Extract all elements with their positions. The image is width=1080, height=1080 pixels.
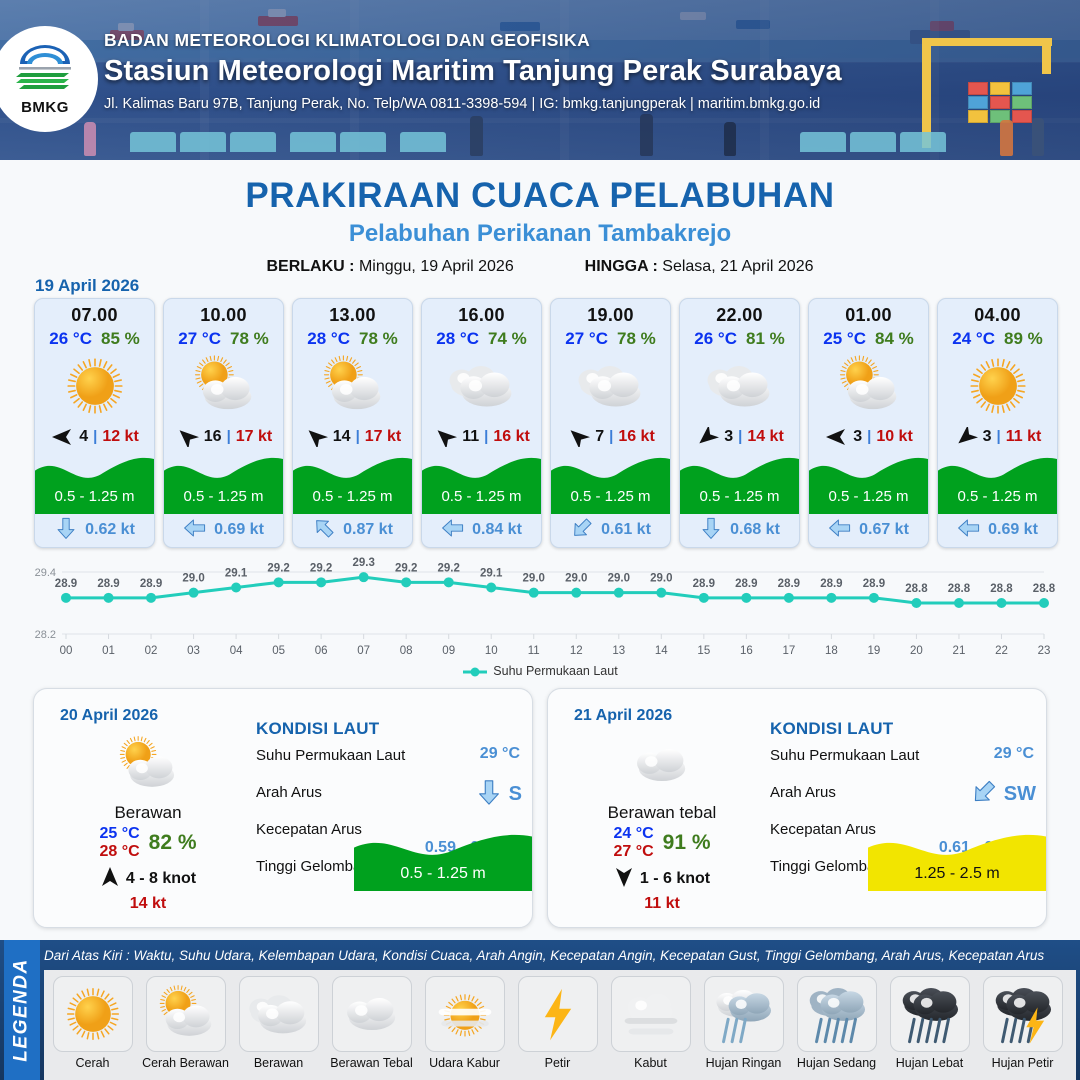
svg-text:18: 18 bbox=[825, 645, 838, 657]
card-current-speed: 0.68 kt bbox=[730, 521, 780, 539]
card-wave-block: 0.5 - 1.25 m bbox=[293, 452, 412, 513]
card-wind-arrow-northwest-icon bbox=[954, 427, 978, 447]
svg-text:28.2: 28.2 bbox=[35, 629, 56, 641]
card-wave-block: 0.5 - 1.25 m bbox=[164, 452, 283, 513]
card-wind-degree: 7 bbox=[595, 428, 604, 446]
card-wind-arrow-southwest-icon bbox=[304, 427, 328, 447]
card-current-row: 0.67 kt bbox=[809, 514, 928, 547]
card-wind-row: 3 | 14 kt bbox=[680, 422, 799, 452]
card-wind-degree: 4 bbox=[79, 428, 88, 446]
card-current-speed: 0.84 kt bbox=[472, 521, 522, 539]
current-direction-row: Arah Arus SW bbox=[770, 782, 1038, 819]
current-speed-label: Kecepatan Arus bbox=[770, 821, 876, 838]
legenda-cerah-icon bbox=[53, 976, 133, 1052]
card-wind-row: 7 | 16 kt bbox=[551, 422, 670, 452]
legenda-item: Cerah Berawan bbox=[142, 976, 229, 1080]
legenda-item-label: Hujan Sedang bbox=[797, 1056, 876, 1070]
card-temp-humidity-row: 26 °C 85 % bbox=[49, 329, 139, 349]
berlaku-label: BERLAKU : bbox=[267, 258, 355, 275]
card-wind-degree: 11 bbox=[462, 428, 479, 446]
berlaku-value: Minggu, 19 April 2026 bbox=[359, 258, 514, 275]
current-direction-label: Arah Arus bbox=[770, 784, 836, 801]
card-current-arrow-down-icon bbox=[699, 516, 723, 545]
page-title: PRAKIRAAN CUACA PELABUHAN bbox=[0, 176, 1080, 216]
card-current-row: 0.84 kt bbox=[422, 514, 541, 547]
header-seat bbox=[800, 132, 846, 152]
card-temperature: 26 °C bbox=[49, 329, 92, 349]
svg-text:04: 04 bbox=[230, 645, 243, 657]
card-separator: | bbox=[93, 428, 97, 445]
sst-row: Suhu Permukaan Laut 29 °C bbox=[256, 745, 524, 782]
daily-wind-speed: 4 - 8 knot bbox=[126, 870, 196, 888]
daily-temp-max: 27 °C bbox=[613, 843, 653, 861]
sst-row: Suhu Permukaan Laut 29 °C bbox=[770, 745, 1038, 782]
card-humidity: 81 % bbox=[746, 329, 785, 349]
legenda-item: Berawan bbox=[235, 976, 322, 1080]
current-arrow-down-icon bbox=[475, 778, 503, 811]
daily-summary: Berawan 25 °C 28 °C 82 % 4 - 8 knot 14 k… bbox=[48, 731, 248, 913]
sea-conditions-title: KONDISI LAUT bbox=[770, 719, 1038, 739]
card-temp-humidity-row: 26 °C 81 % bbox=[694, 329, 784, 349]
legenda-item: Hujan Petir bbox=[979, 976, 1066, 1080]
card-humidity: 74 % bbox=[488, 329, 527, 349]
chart-legend-swatch bbox=[462, 666, 488, 678]
card-current-arrow-northwest-icon bbox=[312, 516, 336, 545]
hourly-card: 22.00 26 °C 81 % 3 | 14 kt bbox=[679, 298, 800, 548]
card-wave-height: 0.5 - 1.25 m bbox=[551, 488, 670, 505]
daily-panels: 20 April 2026 Berawan 25 °C 28 °C 82 % bbox=[33, 688, 1047, 928]
card-temperature: 26 °C bbox=[694, 329, 737, 349]
current-arrow-southwest-icon bbox=[970, 778, 998, 811]
hourly-card: 01.00 25 °C 84 % 3 | 10 kt bbox=[808, 298, 929, 548]
card-current-speed: 0.61 kt bbox=[601, 521, 651, 539]
legenda-items: Cerah Cerah Berawan Ber bbox=[44, 970, 1076, 1080]
daily-temp-min: 24 °C bbox=[613, 825, 653, 843]
card-wind-row: 16 | 17 kt bbox=[164, 422, 283, 452]
daily-date: 21 April 2026 bbox=[574, 707, 672, 725]
legenda-item-label: Cerah bbox=[75, 1056, 109, 1070]
card-current-arrow-west-icon bbox=[183, 516, 207, 545]
card-wind-degree: 14 bbox=[333, 428, 351, 446]
title-block: PRAKIRAAN CUACA PELABUHAN Pelabuhan Peri… bbox=[0, 176, 1080, 276]
legenda-hujan-ringan-icon bbox=[704, 976, 784, 1052]
svg-text:23: 23 bbox=[1038, 645, 1051, 657]
svg-text:28.8: 28.8 bbox=[948, 583, 971, 595]
legenda-item-label: Petir bbox=[545, 1056, 571, 1070]
card-current-arrow-southwest-icon bbox=[570, 516, 594, 545]
header-person bbox=[470, 116, 483, 156]
legenda-item: Berawan Tebal bbox=[328, 976, 415, 1080]
daily-summary: Berawan tebal 24 °C 27 °C 91 % 1 - 6 kno… bbox=[562, 731, 762, 913]
legenda-petir-icon bbox=[518, 976, 598, 1052]
page-header: BMKG BADAN METEOROLOGI KLIMATOLOGI DAN G… bbox=[0, 0, 1080, 160]
svg-text:29.1: 29.1 bbox=[225, 568, 248, 580]
card-wind-arrow-west-icon bbox=[50, 427, 74, 447]
header-address: Jl. Kalimas Baru 97B, Tanjung Perak, No.… bbox=[104, 96, 1054, 112]
card-current-row: 0.61 kt bbox=[551, 514, 670, 547]
card-gust: 10 kt bbox=[876, 428, 912, 446]
legenda-item: Kabut bbox=[607, 976, 694, 1080]
card-wind-row: 4 | 12 kt bbox=[35, 422, 154, 452]
daily-weather-cerah-berawan-icon bbox=[48, 731, 248, 799]
bmkg-logo-mark bbox=[14, 42, 76, 98]
daily-condition: Berawan bbox=[48, 803, 248, 823]
legenda-section: LEGENDA Dari Atas Kiri : Waktu, Suhu Uda… bbox=[0, 940, 1080, 1080]
card-wind-row: 3 | 10 kt bbox=[809, 422, 928, 452]
header-seat bbox=[230, 132, 276, 152]
daily-humidity: 91 % bbox=[663, 831, 711, 855]
legenda-item-label: Berawan Tebal bbox=[330, 1056, 412, 1070]
legenda-udara-kabur-icon bbox=[425, 976, 505, 1052]
page-subtitle: Pelabuhan Perikanan Tambakrejo bbox=[0, 220, 1080, 248]
card-temperature: 27 °C bbox=[565, 329, 608, 349]
legenda-item: Hujan Lebat bbox=[886, 976, 973, 1080]
card-humidity: 85 % bbox=[101, 329, 140, 349]
daily-wind-row: 1 - 6 knot bbox=[562, 866, 762, 893]
svg-text:15: 15 bbox=[697, 645, 710, 657]
svg-text:06: 06 bbox=[315, 645, 328, 657]
legenda-item: Hujan Ringan bbox=[700, 976, 787, 1080]
chart-legend-label: Suhu Permukaan Laut bbox=[493, 664, 617, 678]
svg-text:07: 07 bbox=[357, 645, 370, 657]
legenda-item-label: Udara Kabur bbox=[429, 1056, 500, 1070]
sst-value: 29 °C bbox=[994, 745, 1034, 763]
current-direction-value: SW bbox=[1004, 783, 1036, 806]
header-person bbox=[1000, 120, 1013, 156]
header-seat bbox=[850, 132, 896, 152]
header-org-name: BADAN METEOROLOGI KLIMATOLOGI DAN GEOFIS… bbox=[104, 30, 1054, 51]
header-seat bbox=[340, 132, 386, 152]
card-wave-block: 0.5 - 1.25 m bbox=[422, 452, 541, 513]
card-current-row: 0.68 kt bbox=[680, 514, 799, 547]
header-station-name: Stasiun Meteorologi Maritim Tanjung Pera… bbox=[104, 55, 1054, 88]
header-person bbox=[724, 122, 736, 156]
card-current-arrow-west-icon bbox=[441, 516, 465, 545]
card-current-arrow-west-icon bbox=[957, 516, 981, 545]
card-gust: 16 kt bbox=[493, 428, 529, 446]
card-current-speed: 0.69 kt bbox=[214, 521, 264, 539]
header-seat bbox=[180, 132, 226, 152]
daily-wind-speed: 1 - 6 knot bbox=[640, 870, 710, 888]
hourly-date-label: 19 April 2026 bbox=[35, 276, 139, 296]
card-wave-block: 0.5 - 1.25 m bbox=[551, 452, 670, 513]
current-direction-value: S bbox=[509, 783, 522, 806]
card-temperature: 24 °C bbox=[952, 329, 995, 349]
current-speed-label: Kecepatan Arus bbox=[256, 821, 362, 838]
current-direction-value-group: S bbox=[475, 778, 522, 811]
current-direction-value-group: SW bbox=[970, 778, 1036, 811]
card-current-row: 0.69 kt bbox=[164, 514, 283, 547]
daily-wind-arrow-north-icon bbox=[100, 866, 120, 893]
daily-condition: Berawan tebal bbox=[562, 803, 762, 823]
card-wave-block: 0.5 - 1.25 m bbox=[809, 452, 928, 513]
card-temp-humidity-row: 27 °C 78 % bbox=[178, 329, 268, 349]
card-wind-row: 3 | 11 kt bbox=[938, 422, 1057, 452]
daily-wave-height: 1.25 - 2.5 m bbox=[868, 865, 1046, 883]
hourly-forecast-row: 07.00 26 °C 85 % 4 | 12 kt 0.5 - 1.25 m bbox=[34, 298, 1058, 548]
svg-text:29.0: 29.0 bbox=[565, 573, 587, 585]
svg-text:21: 21 bbox=[953, 645, 966, 657]
card-humidity: 78 % bbox=[617, 329, 656, 349]
daily-date: 20 April 2026 bbox=[60, 707, 158, 725]
svg-text:29.0: 29.0 bbox=[608, 573, 630, 585]
header-seat bbox=[130, 132, 176, 152]
card-wave-height: 0.5 - 1.25 m bbox=[35, 488, 154, 505]
svg-text:01: 01 bbox=[102, 645, 115, 657]
hingga-label: HINGGA : bbox=[585, 258, 658, 275]
card-wind-row: 14 | 17 kt bbox=[293, 422, 412, 452]
card-current-row: 0.62 kt bbox=[35, 514, 154, 547]
card-time: 10.00 bbox=[200, 305, 247, 326]
svg-text:08: 08 bbox=[400, 645, 413, 657]
card-wave-height: 0.5 - 1.25 m bbox=[164, 488, 283, 505]
daily-temp-humidity-row: 24 °C 27 °C 91 % bbox=[562, 825, 762, 862]
card-time: 04.00 bbox=[974, 305, 1021, 326]
svg-text:29.2: 29.2 bbox=[395, 562, 417, 574]
sst-value: 29 °C bbox=[480, 745, 520, 763]
hourly-card: 13.00 28 °C 78 % 14 | 17 kt bbox=[292, 298, 413, 548]
svg-text:17: 17 bbox=[782, 645, 795, 657]
card-gust: 12 kt bbox=[102, 428, 138, 446]
daily-temp-column: 25 °C 28 °C bbox=[99, 825, 139, 862]
card-wind-degree: 3 bbox=[853, 428, 862, 446]
card-wave-height: 0.5 - 1.25 m bbox=[422, 488, 541, 505]
hourly-card: 19.00 27 °C 78 % 7 | 16 kt bbox=[550, 298, 671, 548]
card-current-arrow-west-icon bbox=[828, 516, 852, 545]
daily-temp-column: 24 °C 27 °C bbox=[613, 825, 653, 862]
hourly-card: 07.00 26 °C 85 % 4 | 12 kt 0.5 - 1.25 m bbox=[34, 298, 155, 548]
daily-panel: 21 April 2026 Berawan tebal 24 °C 27 °C … bbox=[547, 688, 1047, 928]
daily-wind-arrow-south-icon bbox=[614, 866, 634, 893]
card-temp-humidity-row: 24 °C 89 % bbox=[952, 329, 1042, 349]
svg-text:29.0: 29.0 bbox=[650, 573, 672, 585]
card-temperature: 25 °C bbox=[823, 329, 866, 349]
card-gust: 14 kt bbox=[747, 428, 783, 446]
card-wave-block: 0.5 - 1.25 m bbox=[938, 452, 1057, 513]
card-time: 19.00 bbox=[587, 305, 634, 326]
legenda-item-label: Hujan Petir bbox=[992, 1056, 1054, 1070]
card-wind-arrow-northwest-icon bbox=[695, 427, 719, 447]
card-separator: | bbox=[484, 428, 488, 445]
card-wind-arrow-southwest-icon bbox=[566, 427, 590, 447]
card-weather-berawan-icon bbox=[551, 351, 670, 422]
daily-weather-berawan-tebal-icon bbox=[562, 731, 762, 799]
hourly-card: 10.00 27 °C 78 % 16 | 17 kt bbox=[163, 298, 284, 548]
svg-text:29.3: 29.3 bbox=[352, 557, 374, 569]
current-direction-row: Arah Arus S bbox=[256, 782, 524, 819]
card-separator: | bbox=[997, 428, 1001, 445]
legenda-berawan-icon bbox=[239, 976, 319, 1052]
legenda-item-label: Cerah Berawan bbox=[142, 1056, 229, 1070]
header-seat bbox=[400, 132, 446, 152]
svg-text:09: 09 bbox=[442, 645, 455, 657]
svg-text:11: 11 bbox=[528, 645, 540, 657]
card-weather-cerah-berawan-icon bbox=[164, 351, 283, 422]
card-humidity: 84 % bbox=[875, 329, 914, 349]
sst-chart: 29.428.228.90028.90128.90229.00329.10429… bbox=[0, 556, 1080, 681]
card-temperature: 27 °C bbox=[178, 329, 221, 349]
legenda-hujan-sedang-icon bbox=[797, 976, 877, 1052]
card-wind-arrow-southwest-icon bbox=[175, 427, 199, 447]
legenda-hujan-lebat-icon bbox=[890, 976, 970, 1052]
card-wind-degree: 3 bbox=[983, 428, 992, 446]
hourly-card: 16.00 28 °C 74 % 11 | 16 kt bbox=[421, 298, 542, 548]
card-temperature: 28 °C bbox=[307, 329, 350, 349]
card-wind-degree: 3 bbox=[724, 428, 733, 446]
svg-text:16: 16 bbox=[740, 645, 753, 657]
legenda-item-label: Kabut bbox=[634, 1056, 667, 1070]
sst-label: Suhu Permukaan Laut bbox=[770, 747, 919, 764]
card-wind-arrow-southwest-icon bbox=[433, 427, 457, 447]
card-temp-humidity-row: 25 °C 84 % bbox=[823, 329, 913, 349]
legenda-hujan-petir-icon bbox=[983, 976, 1063, 1052]
svg-text:28.9: 28.9 bbox=[140, 578, 162, 590]
card-current-row: 0.69 kt bbox=[938, 514, 1057, 547]
legenda-item: Petir bbox=[514, 976, 601, 1080]
card-current-speed: 0.67 kt bbox=[859, 521, 909, 539]
bmkg-logo-text: BMKG bbox=[21, 99, 69, 116]
card-gust: 17 kt bbox=[236, 428, 272, 446]
svg-text:19: 19 bbox=[868, 645, 881, 657]
card-temp-humidity-row: 28 °C 78 % bbox=[307, 329, 397, 349]
legenda-item: Hujan Sedang bbox=[793, 976, 880, 1080]
header-text-block: BADAN METEOROLOGI KLIMATOLOGI DAN GEOFIS… bbox=[104, 30, 1054, 112]
card-wind-row: 11 | 16 kt bbox=[422, 422, 541, 452]
legenda-item-label: Hujan Ringan bbox=[706, 1056, 782, 1070]
card-time: 01.00 bbox=[845, 305, 892, 326]
card-gust: 11 kt bbox=[1006, 428, 1042, 446]
card-current-speed: 0.69 kt bbox=[988, 521, 1038, 539]
daily-gust: 14 kt bbox=[48, 895, 248, 913]
svg-text:14: 14 bbox=[655, 645, 668, 657]
card-gust: 16 kt bbox=[618, 428, 654, 446]
svg-text:28.9: 28.9 bbox=[693, 578, 715, 590]
card-temp-humidity-row: 27 °C 78 % bbox=[565, 329, 655, 349]
legenda-note: Dari Atas Kiri : Waktu, Suhu Udara, Kele… bbox=[44, 948, 1076, 963]
legenda-item: Udara Kabur bbox=[421, 976, 508, 1080]
card-wave-block: 0.5 - 1.25 m bbox=[35, 452, 154, 513]
card-gust: 17 kt bbox=[365, 428, 401, 446]
svg-text:28.9: 28.9 bbox=[863, 578, 885, 590]
legenda-item-label: Hujan Lebat bbox=[896, 1056, 963, 1070]
svg-text:13: 13 bbox=[612, 645, 625, 657]
card-wave-height: 0.5 - 1.25 m bbox=[938, 488, 1057, 505]
svg-text:29.4: 29.4 bbox=[35, 567, 56, 579]
card-weather-cerah-berawan-icon bbox=[809, 351, 928, 422]
svg-text:29.1: 29.1 bbox=[480, 568, 503, 580]
card-wave-block: 0.5 - 1.25 m bbox=[680, 452, 799, 513]
card-wave-height: 0.5 - 1.25 m bbox=[680, 488, 799, 505]
svg-text:05: 05 bbox=[272, 645, 285, 657]
card-humidity: 78 % bbox=[359, 329, 398, 349]
card-time: 22.00 bbox=[716, 305, 763, 326]
legenda-item-label: Berawan bbox=[254, 1056, 303, 1070]
card-wave-height: 0.5 - 1.25 m bbox=[809, 488, 928, 505]
card-weather-cerah-berawan-icon bbox=[293, 351, 412, 422]
sea-conditions-title: KONDISI LAUT bbox=[256, 719, 524, 739]
header-seat bbox=[290, 132, 336, 152]
daily-gust: 11 kt bbox=[562, 895, 762, 913]
svg-text:29.2: 29.2 bbox=[267, 562, 289, 574]
svg-text:20: 20 bbox=[910, 645, 923, 657]
svg-text:29.2: 29.2 bbox=[438, 562, 460, 574]
svg-text:00: 00 bbox=[60, 645, 73, 657]
svg-text:10: 10 bbox=[485, 645, 498, 657]
svg-text:28.8: 28.8 bbox=[1033, 583, 1056, 595]
card-time: 16.00 bbox=[458, 305, 505, 326]
card-wind-degree: 16 bbox=[204, 428, 222, 446]
card-time: 07.00 bbox=[71, 305, 118, 326]
daily-humidity: 82 % bbox=[149, 831, 197, 855]
card-humidity: 78 % bbox=[230, 329, 269, 349]
hingga-value: Selasa, 21 April 2026 bbox=[662, 258, 813, 275]
daily-temp-humidity-row: 25 °C 28 °C 82 % bbox=[48, 825, 248, 862]
card-humidity: 89 % bbox=[1004, 329, 1043, 349]
card-temperature: 28 °C bbox=[436, 329, 479, 349]
sst-label: Suhu Permukaan Laut bbox=[256, 747, 405, 764]
daily-wave-block: 0.5 - 1.25 m bbox=[354, 829, 532, 891]
header-person bbox=[84, 122, 96, 156]
card-wind-arrow-west-icon bbox=[824, 427, 848, 447]
header-person bbox=[640, 114, 653, 156]
legenda-kabut-icon bbox=[611, 976, 691, 1052]
svg-text:03: 03 bbox=[187, 645, 200, 657]
header-seat bbox=[900, 132, 946, 152]
chart-legend: Suhu Permukaan Laut bbox=[0, 664, 1080, 678]
card-separator: | bbox=[738, 428, 742, 445]
card-weather-cerah-icon bbox=[35, 351, 154, 422]
card-current-speed: 0.87 kt bbox=[343, 521, 393, 539]
daily-wind-row: 4 - 8 knot bbox=[48, 866, 248, 893]
svg-text:28.8: 28.8 bbox=[905, 583, 928, 595]
card-weather-berawan-icon bbox=[422, 351, 541, 422]
legenda-berawan-tebal-icon bbox=[332, 976, 412, 1052]
daily-panel: 20 April 2026 Berawan 25 °C 28 °C 82 % bbox=[33, 688, 533, 928]
validity-row: BERLAKU : Minggu, 19 April 2026 HINGGA :… bbox=[0, 258, 1080, 276]
legenda-sidebar-label: LEGENDA bbox=[11, 958, 33, 1061]
card-time: 13.00 bbox=[329, 305, 376, 326]
card-separator: | bbox=[867, 428, 871, 445]
card-wave-height: 0.5 - 1.25 m bbox=[293, 488, 412, 505]
hourly-card: 04.00 24 °C 89 % 3 | 11 kt 0.5 - 1.25 m bbox=[937, 298, 1058, 548]
legenda-sidebar: LEGENDA bbox=[4, 940, 40, 1080]
daily-temp-max: 28 °C bbox=[99, 843, 139, 861]
card-separator: | bbox=[356, 428, 360, 445]
svg-text:02: 02 bbox=[145, 645, 158, 657]
svg-text:22: 22 bbox=[995, 645, 1008, 657]
daily-wave-height: 0.5 - 1.25 m bbox=[354, 865, 532, 883]
sst-chart-svg: 29.428.228.90028.90128.90229.00329.10429… bbox=[0, 556, 1080, 681]
svg-text:28.9: 28.9 bbox=[778, 578, 800, 590]
card-separator: | bbox=[609, 428, 613, 445]
header-person bbox=[1032, 118, 1044, 156]
legenda-item: Cerah bbox=[49, 976, 136, 1080]
svg-text:28.9: 28.9 bbox=[55, 578, 77, 590]
svg-text:28.9: 28.9 bbox=[97, 578, 119, 590]
card-current-speed: 0.62 kt bbox=[85, 521, 135, 539]
svg-text:12: 12 bbox=[570, 645, 583, 657]
legenda-cerah-berawan-icon bbox=[146, 976, 226, 1052]
daily-wave-block: 1.25 - 2.5 m bbox=[868, 829, 1046, 891]
svg-text:28.9: 28.9 bbox=[735, 578, 757, 590]
current-direction-label: Arah Arus bbox=[256, 784, 322, 801]
card-weather-cerah-icon bbox=[938, 351, 1057, 422]
daily-temp-min: 25 °C bbox=[99, 825, 139, 843]
svg-text:28.8: 28.8 bbox=[990, 583, 1013, 595]
svg-text:28.9: 28.9 bbox=[820, 578, 842, 590]
card-weather-berawan-icon bbox=[680, 351, 799, 422]
card-current-row: 0.87 kt bbox=[293, 514, 412, 547]
